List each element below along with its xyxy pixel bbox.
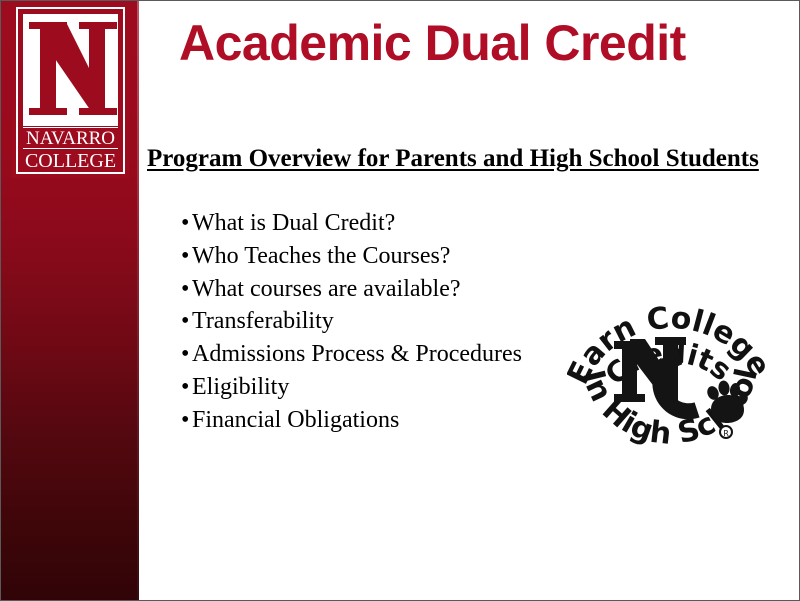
bullet-marker-icon: • — [181, 273, 192, 306]
list-item-label: Transferability — [192, 308, 334, 334]
slide-subtitle: Program Overview for Parents and High Sc… — [147, 145, 799, 173]
list-item-label: Eligibility — [192, 374, 289, 400]
logo-divider-bottom — [23, 148, 118, 149]
list-item-label: Financial Obligations — [192, 407, 399, 433]
presentation-slide: NAVARRO COLLEGE Academic Dual Credit Pro… — [0, 0, 800, 601]
list-item: •Admissions Process & Procedures — [181, 338, 601, 371]
earn-college-credits-badge: Earn College Credits In High School — [567, 277, 771, 473]
list-item: •Transferability — [181, 305, 601, 338]
list-item-label: Who Teaches the Courses? — [192, 243, 450, 269]
list-item: •Financial Obligations — [181, 404, 601, 437]
navarro-college-logo: NAVARRO COLLEGE — [12, 3, 129, 178]
list-item: •What courses are available? — [181, 273, 601, 306]
list-item-label: Admissions Process & Procedures — [192, 341, 522, 367]
logo-frame: NAVARRO COLLEGE — [16, 7, 125, 174]
list-item: •What is Dual Credit? — [181, 207, 601, 240]
bullet-marker-icon: • — [181, 305, 192, 338]
bullet-marker-icon: • — [181, 338, 192, 371]
list-item: •Eligibility — [181, 371, 601, 404]
logo-text-college: COLLEGE — [23, 151, 118, 171]
bullet-marker-icon: • — [181, 207, 192, 240]
logo-monogram-n-icon — [23, 14, 118, 126]
bullet-marker-icon: • — [181, 371, 192, 404]
list-item-label: What is Dual Credit? — [192, 210, 395, 236]
list-item-label: What courses are available? — [192, 276, 461, 302]
logo-text-navarro: NAVARRO — [23, 129, 118, 148]
bullet-marker-icon: • — [181, 240, 192, 273]
agenda-bullet-list: •What is Dual Credit? •Who Teaches the C… — [181, 207, 601, 437]
sidebar-edge-highlight — [137, 1, 139, 601]
list-item: •Who Teaches the Courses? — [181, 240, 601, 273]
bullet-marker-icon: • — [181, 404, 192, 437]
slide-title: Academic Dual Credit — [179, 17, 789, 70]
svg-text:R: R — [723, 429, 729, 438]
